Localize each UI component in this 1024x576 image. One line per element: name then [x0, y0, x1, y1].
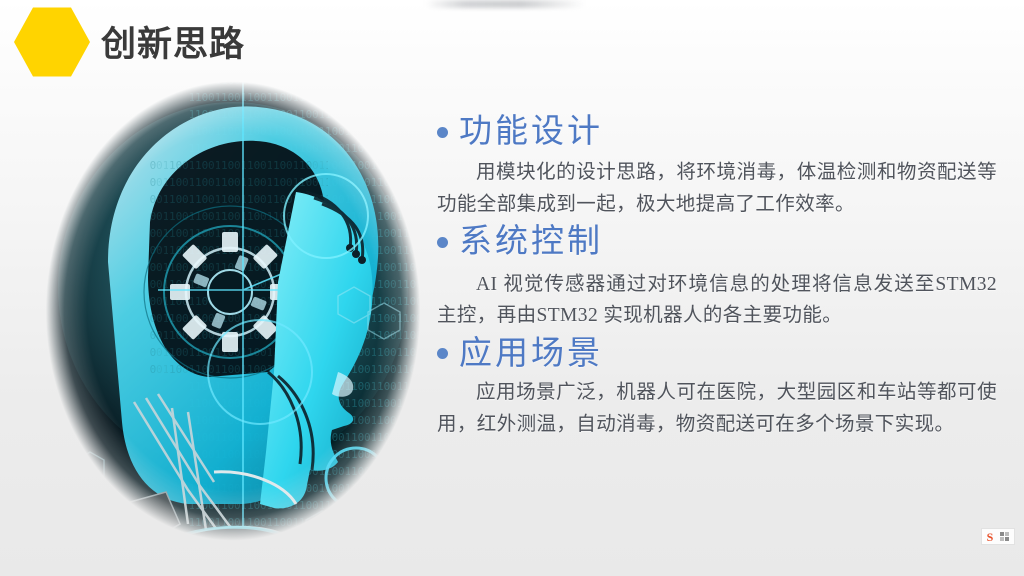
section-heading-1: 功能设计 — [437, 112, 997, 152]
bullet-icon — [437, 127, 448, 138]
robot-head-illustration: 10 01 — [38, 72, 428, 550]
slide-canvas: 创新思路 — [0, 0, 1024, 576]
hexagon-accent — [14, 6, 90, 78]
section-body-3: 应用场景广泛，机器人可在医院，大型园区和车站等都可使用，红外测温，自动消毒，物资… — [437, 377, 997, 440]
site-watermark: S — [981, 528, 1015, 545]
top-decor-band — [425, 0, 585, 8]
ai-robot-head-image: 10 01 — [38, 72, 428, 550]
yellow-hexagon-icon — [14, 6, 90, 78]
section-heading-1-label: 功能设计 — [459, 112, 603, 152]
page-title: 创新思路 — [101, 16, 245, 67]
section-heading-2: 系统控制 — [437, 222, 997, 262]
section-heading-2-label: 系统控制 — [459, 222, 603, 262]
section-body-2: AI 视觉传感器通过对环境信息的处理将信息发送至STM32 主控，再由STM32… — [437, 269, 997, 332]
section-application-scenario: 应用场景 应用场景广泛，机器人可在医院，大型园区和车站等都可使用，红外测温，自动… — [437, 334, 997, 440]
section-function-design: 功能设计 用模块化的设计思路，将环境消毒，体温检测和物资配送等功能全部集成到一起… — [437, 112, 997, 220]
section-body-1: 用模块化的设计思路，将环境消毒，体温检测和物资配送等功能全部集成到一起，极大地提… — [437, 157, 997, 220]
watermark-grid-icon — [1000, 532, 1009, 541]
bullet-icon — [437, 237, 448, 248]
section-heading-3-label: 应用场景 — [459, 334, 603, 374]
bullet-icon — [437, 348, 448, 359]
section-system-control: 系统控制 AI 视觉传感器通过对环境信息的处理将信息发送至STM32 主控，再由… — [437, 222, 997, 331]
content-column: 功能设计 用模块化的设计思路，将环境消毒，体温检测和物资配送等功能全部集成到一起… — [437, 112, 997, 442]
section-heading-3: 应用场景 — [437, 334, 997, 374]
watermark-logo-icon: S — [983, 530, 997, 544]
